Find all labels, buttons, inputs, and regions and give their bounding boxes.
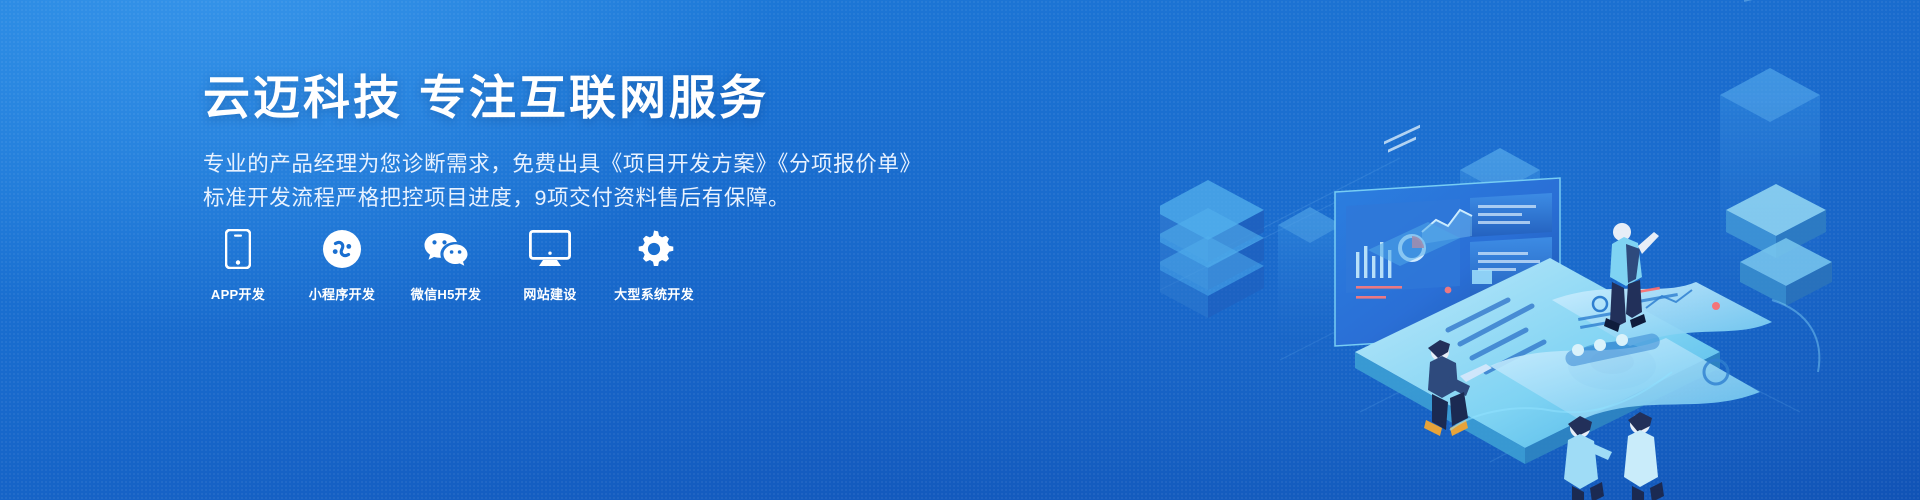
service-item-mini-program[interactable]: 小程序开发 xyxy=(307,228,377,303)
banner-subtitle: 专业的产品经理为您诊断需求，免费出具《项目开发方案》《分项报价单》 标准开发流程… xyxy=(203,147,923,217)
service-label: 微信H5开发 xyxy=(411,284,481,303)
banner-copy: 云迈科技 专注互联网服务 专业的产品经理为您诊断需求，免费出具《项目开发方案》《… xyxy=(203,72,923,216)
service-item-wechat-h5[interactable]: 微信H5开发 xyxy=(411,228,481,303)
subtitle-line-2: 标准开发流程严格把控项目进度，9项交付资料售后有保障。 xyxy=(203,181,923,216)
page-title: 云迈科技 专注互联网服务 xyxy=(203,72,923,125)
service-label: APP开发 xyxy=(211,284,265,303)
mini-program-icon xyxy=(322,228,362,270)
service-label: 网站建设 xyxy=(523,284,576,303)
service-item-large-system[interactable]: 大型系统开发 xyxy=(619,228,689,303)
service-label: 大型系统开发 xyxy=(614,284,694,303)
wechat-icon xyxy=(423,228,469,270)
monitor-icon xyxy=(529,228,571,270)
service-label: 小程序开发 xyxy=(309,284,376,303)
isometric-tech-illustration xyxy=(1160,0,1920,500)
service-list: APP开发 小程序开发 xyxy=(203,228,689,303)
figure-pair-left xyxy=(1564,416,1612,500)
hero-banner: 云迈科技 专注互联网服务 专业的产品经理为您诊断需求，免费出具《项目开发方案》《… xyxy=(0,0,1920,500)
service-item-website[interactable]: 网站建设 xyxy=(515,228,585,303)
figure-pair-right xyxy=(1624,412,1664,500)
gear-icon xyxy=(634,228,674,270)
service-item-app[interactable]: APP开发 xyxy=(203,228,273,303)
mobile-phone-icon xyxy=(225,228,251,270)
subtitle-line-1: 专业的产品经理为您诊断需求，免费出具《项目开发方案》《分项报价单》 xyxy=(203,152,922,176)
